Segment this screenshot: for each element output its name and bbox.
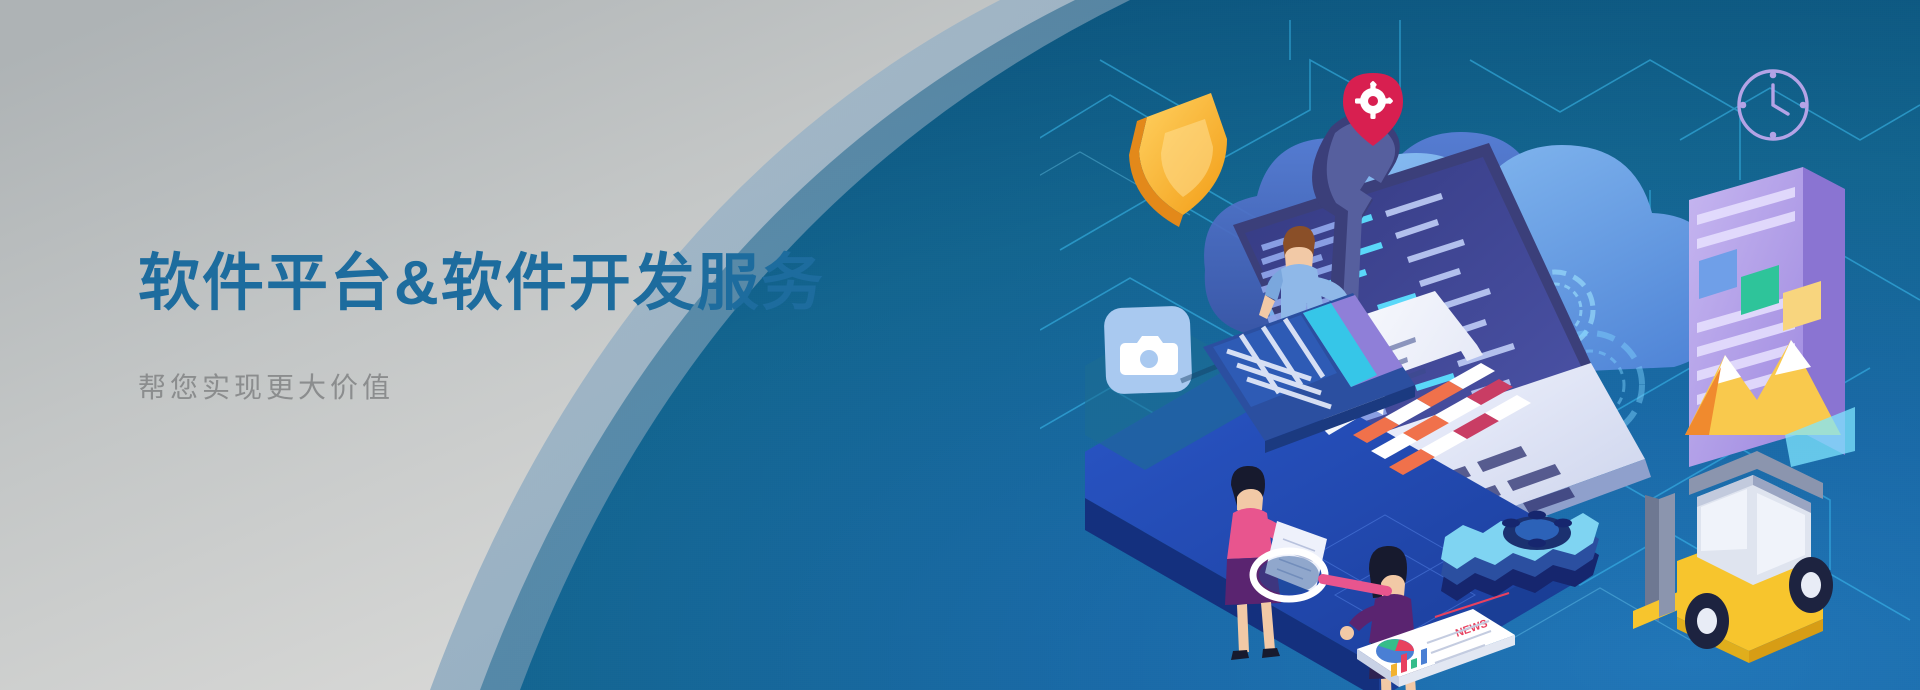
hero-banner: NEWS [0, 0, 1920, 690]
page-subtitle: 帮您实现更大价值 [138, 366, 898, 406]
shield-icon [1129, 93, 1227, 227]
isometric-illustration: NEWS [1085, 55, 1920, 690]
hero-text-block: 软件平台&软件开发服务 帮您实现更大价值 [138, 250, 898, 406]
page-title: 软件平台&软件开发服务 [138, 250, 898, 318]
forklift-vehicle [1633, 451, 1833, 663]
clock-icon [1739, 71, 1807, 139]
news-pie-chart [1376, 639, 1414, 663]
